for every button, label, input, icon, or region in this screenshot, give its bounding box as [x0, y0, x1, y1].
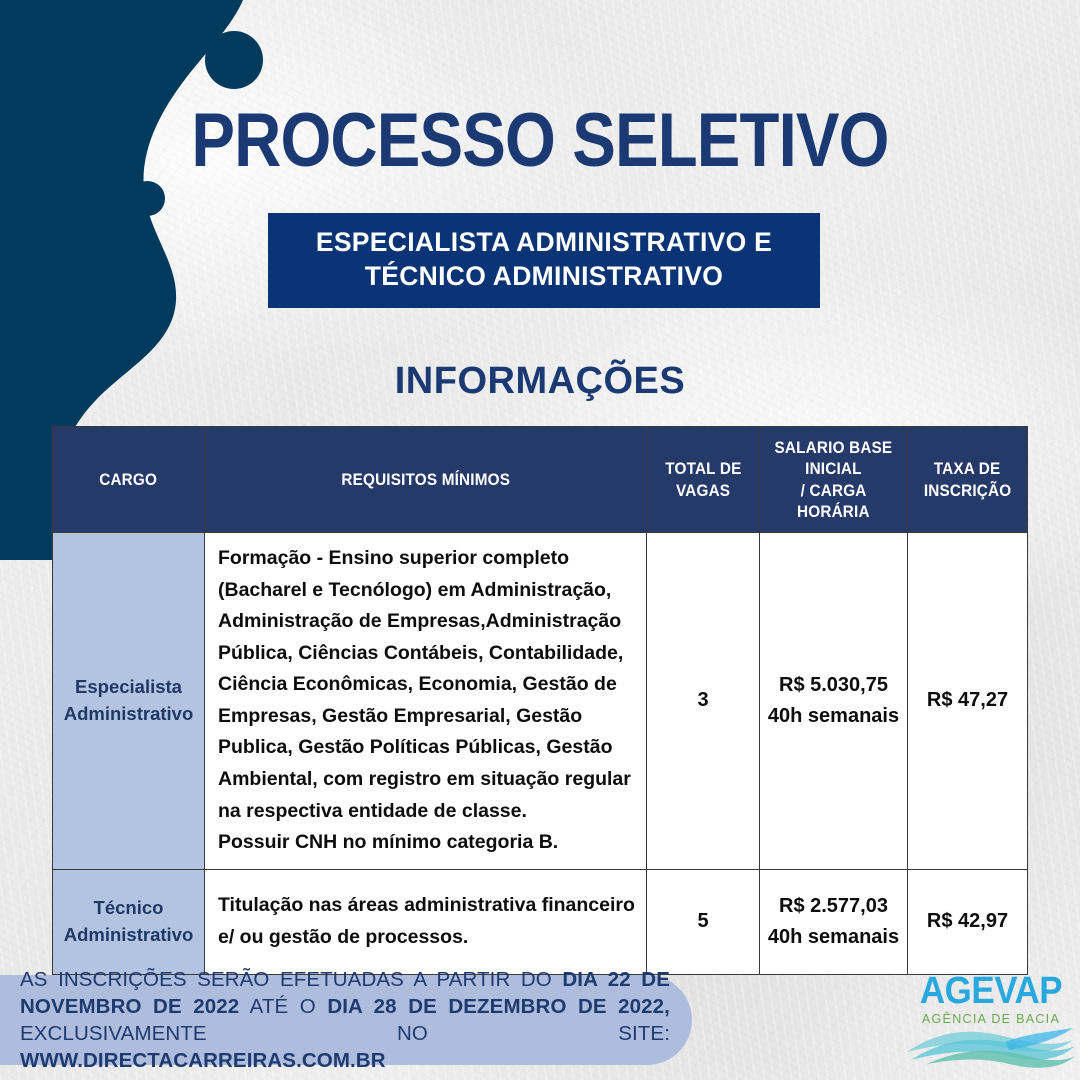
cell-salario: R$ 2.577,03 40h semanais	[760, 869, 908, 974]
requisito-line: Formação - Ensino superior completo	[218, 543, 636, 575]
table-header-row: CARGO REQUISITOS MÍNIMOS TOTAL DE VAGAS …	[53, 427, 1028, 533]
requisito-line: Publica, Gestão Políticas Públicas, Gest…	[218, 732, 636, 764]
column-header-salario-line-1: SALARIO BASE	[775, 437, 893, 458]
requisito-line: Possuir CNH no mínimo categoria B.	[218, 827, 636, 859]
salario-carga: 40h semanais	[764, 922, 903, 953]
table-body: Especialista Administrativo Formação - E…	[53, 533, 1028, 975]
footer-part-2: ATÉ O	[239, 995, 327, 1018]
table-row: Técnico Administrativo Titulação nas áre…	[53, 869, 1028, 974]
requisito-line: na respectiva entidade de classe.	[218, 796, 636, 828]
cargo-line-1: Especialista	[75, 676, 182, 697]
cell-cargo: Especialista Administrativo	[53, 533, 205, 870]
subtitle-line-2: TÉCNICO ADMINISTRATIVO	[268, 259, 820, 293]
salario-valor: R$ 5.030,75	[779, 674, 888, 696]
footer-part-3: EXCLUSIVAMENTE NO SITE:	[20, 1022, 670, 1045]
column-header-taxa-line-1: TAXA DE	[934, 458, 1001, 479]
column-header-salario-line-2: INICIAL	[805, 458, 862, 479]
column-header-vagas-line-1: TOTAL DE	[665, 458, 741, 479]
column-header-salario-line-3: / CARGA	[801, 480, 867, 501]
cell-taxa: R$ 47,27	[908, 533, 1028, 870]
requisito-line: Empresas, Gestão Empresarial, Gestão	[218, 701, 636, 733]
subtitle-banner: ESPECIALISTA ADMINISTRATIVO E TÉCNICO AD…	[268, 213, 820, 308]
cargo-line-1: Técnico	[94, 897, 164, 918]
agevap-logo: AGEVAP AGÊNCIA DE BACIA	[905, 972, 1077, 1076]
cell-taxa: R$ 42,97	[908, 869, 1028, 974]
column-header-cargo: CARGO	[53, 427, 205, 533]
cell-requisitos: Formação - Ensino superior completo (Bac…	[205, 533, 647, 870]
decorative-dot-large	[205, 31, 263, 89]
column-header-requisitos-label: REQUISITOS MÍNIMOS	[341, 469, 510, 490]
requisito-line: Ciência Econômicas, Economia, Gestão de	[218, 669, 636, 701]
section-heading: INFORMAÇÕES	[0, 360, 1080, 403]
requisito-line: Pública, Ciências Contábeis, Contabilida…	[218, 638, 636, 670]
logo-waves-icon	[905, 1022, 1077, 1074]
footer-part-1: AS INSCRIÇÕES SERÃO EFETUADAS A PARTIR D…	[20, 968, 562, 991]
subtitle-line-1: ESPECIALISTA ADMINISTRATIVO E	[268, 225, 820, 259]
column-header-taxa: TAXA DE INSCRIÇÃO	[908, 427, 1028, 533]
column-header-requisitos: REQUISITOS MÍNIMOS	[205, 427, 647, 533]
footer-bold-3: WWW.DIRECTACARREIRAS.COM.BR	[20, 1049, 386, 1072]
salario-carga: 40h semanais	[764, 701, 903, 732]
decorative-dot-small	[130, 181, 165, 216]
requisito-line: Administração de Empresas,Administração	[218, 606, 636, 638]
information-table: CARGO REQUISITOS MÍNIMOS TOTAL DE VAGAS …	[52, 426, 1028, 975]
salario-valor: R$ 2.577,03	[779, 895, 888, 917]
logo-name: AGEVAP	[912, 972, 1070, 1012]
cell-salario: R$ 5.030,75 40h semanais	[760, 533, 908, 870]
column-header-cargo-label: CARGO	[100, 469, 158, 490]
cell-requisitos: Titulação nas áreas administrativa finan…	[205, 869, 647, 974]
column-header-taxa-line-2: INSCRIÇÃO	[924, 480, 1011, 501]
footer-text: AS INSCRIÇÕES SERÃO EFETUADAS A PARTIR D…	[0, 966, 692, 1074]
footer-banner: AS INSCRIÇÕES SERÃO EFETUADAS A PARTIR D…	[0, 975, 692, 1065]
requisito-line: Titulação nas áreas administrativa finan…	[218, 890, 636, 922]
table-header: CARGO REQUISITOS MÍNIMOS TOTAL DE VAGAS …	[53, 427, 1028, 533]
table-row: Especialista Administrativo Formação - E…	[53, 533, 1028, 870]
cell-vagas: 3	[647, 533, 760, 870]
requisito-line: Ambiental, com registro em situação regu…	[218, 764, 636, 796]
footer-bold-2: DIA 28 DE DEZEMBRO DE 2022,	[327, 995, 670, 1018]
requisito-line: (Bacharel e Tecnólogo) em Administração,	[218, 575, 636, 607]
column-header-vagas: TOTAL DE VAGAS	[647, 427, 760, 533]
cell-cargo: Técnico Administrativo	[53, 869, 205, 974]
cargo-line-2: Administrativo	[64, 924, 194, 945]
cell-vagas: 5	[647, 869, 760, 974]
page-title: PROCESSO SELETIVO	[76, 103, 1005, 179]
column-header-salario-line-4: HORÁRIA	[797, 501, 870, 522]
column-header-salario: SALARIO BASE INICIAL / CARGA HORÁRIA	[760, 427, 908, 533]
cargo-line-2: Administrativo	[64, 703, 194, 724]
column-header-vagas-line-2: VAGAS	[676, 480, 730, 501]
requisito-line: e/ ou gestão de processos.	[218, 922, 636, 954]
